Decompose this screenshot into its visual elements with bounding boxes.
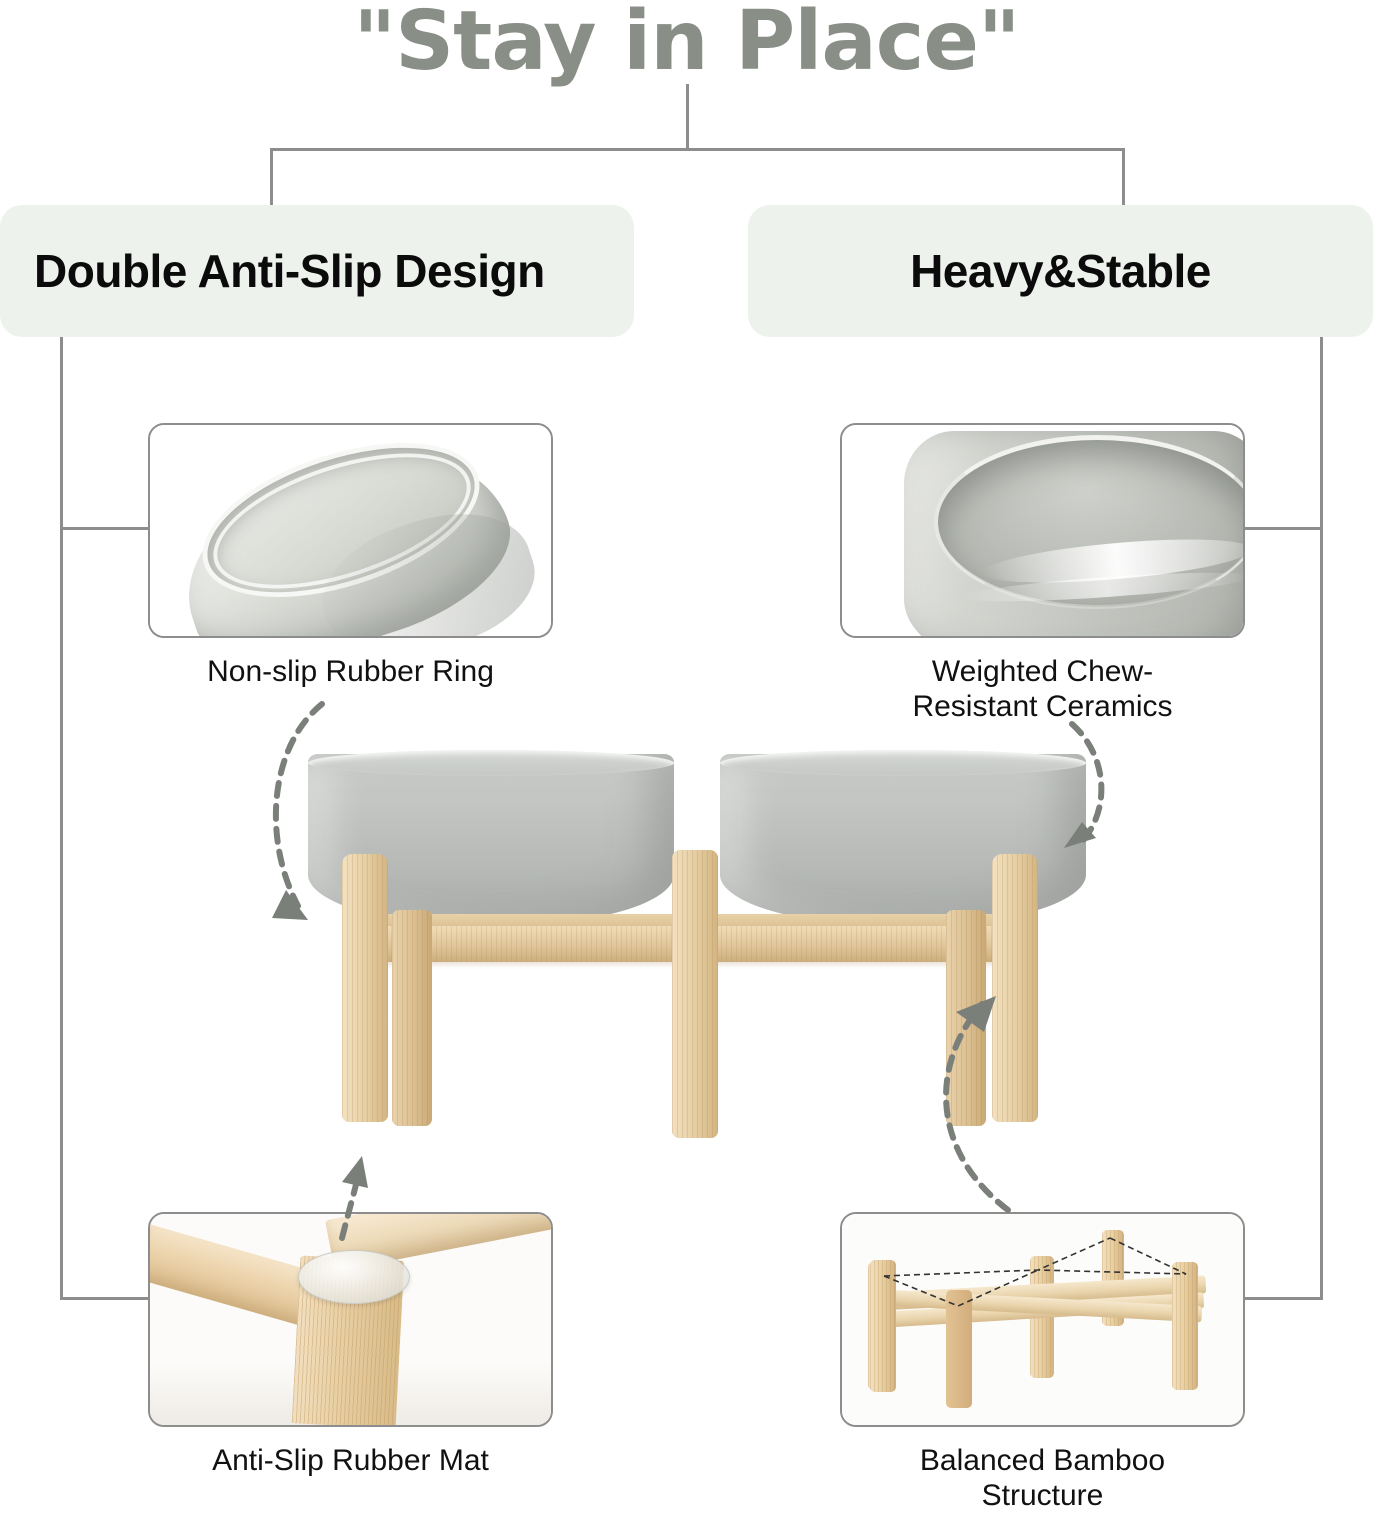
connector-right-branch-top <box>1243 527 1323 530</box>
rubber-foot-pad <box>298 1250 410 1304</box>
connector-right-branch-bottom <box>1243 1297 1323 1300</box>
connector-right-rail <box>1320 337 1323 1299</box>
photo-bowl-underside <box>150 425 551 636</box>
caption-weighted-ceramics: Weighted Chew- Resistant Ceramics <box>810 655 1275 725</box>
bamboo-leg-front-mid <box>946 1290 972 1408</box>
connector-left-branch-bottom <box>60 1297 150 1300</box>
stand-leg-inner-right <box>946 910 986 1126</box>
connector-drop-left <box>270 148 273 208</box>
photo-bamboo-leg-foot <box>150 1214 551 1425</box>
bowl-left-rim <box>308 750 674 776</box>
caption-non-slip-rubber-ring: Non-slip Rubber Ring <box>118 655 583 690</box>
infographic-canvas: "Stay in Place" Double Anti-Slip Design … <box>0 0 1373 1500</box>
feature-photo-balanced-bamboo-structure <box>840 1212 1245 1427</box>
heading-double-anti-slip-design: Double Anti-Slip Design <box>0 205 634 337</box>
heading-heavy-and-stable: Heavy&Stable <box>748 205 1373 337</box>
connector-drop-right <box>1122 148 1125 208</box>
stand-leg-center <box>672 850 718 1138</box>
photo-bamboo-stand <box>842 1214 1243 1425</box>
heading-left-label: Double Anti-Slip Design <box>34 244 545 298</box>
page-title: "Stay in Place" <box>0 0 1373 89</box>
stand-leg-outer-left <box>342 854 388 1122</box>
caption-anti-slip-rubber-mat: Anti-Slip Rubber Mat <box>118 1444 583 1479</box>
feature-photo-anti-slip-rubber-mat <box>148 1212 553 1427</box>
connector-top-bar <box>270 148 1124 151</box>
connector-title-stem <box>686 84 689 150</box>
connector-left-branch-top <box>60 527 150 530</box>
photo-bowl-interior <box>842 425 1243 636</box>
feature-photo-non-slip-rubber-ring <box>148 423 553 638</box>
bowl-right-rim <box>720 750 1086 776</box>
connector-left-rail <box>60 337 63 1299</box>
stand-leg-inner-left <box>392 910 432 1126</box>
feature-photo-weighted-ceramics <box>840 423 1245 638</box>
stand-leg-outer-right <box>992 854 1038 1122</box>
bamboo-leg-front-left <box>870 1260 896 1392</box>
bamboo-leg-front-right <box>1172 1262 1198 1390</box>
product-hero-image <box>300 750 1090 1170</box>
heading-right-label: Heavy&Stable <box>910 244 1211 298</box>
caption-balanced-bamboo-structure: Balanced Bamboo Structure <box>810 1444 1275 1514</box>
